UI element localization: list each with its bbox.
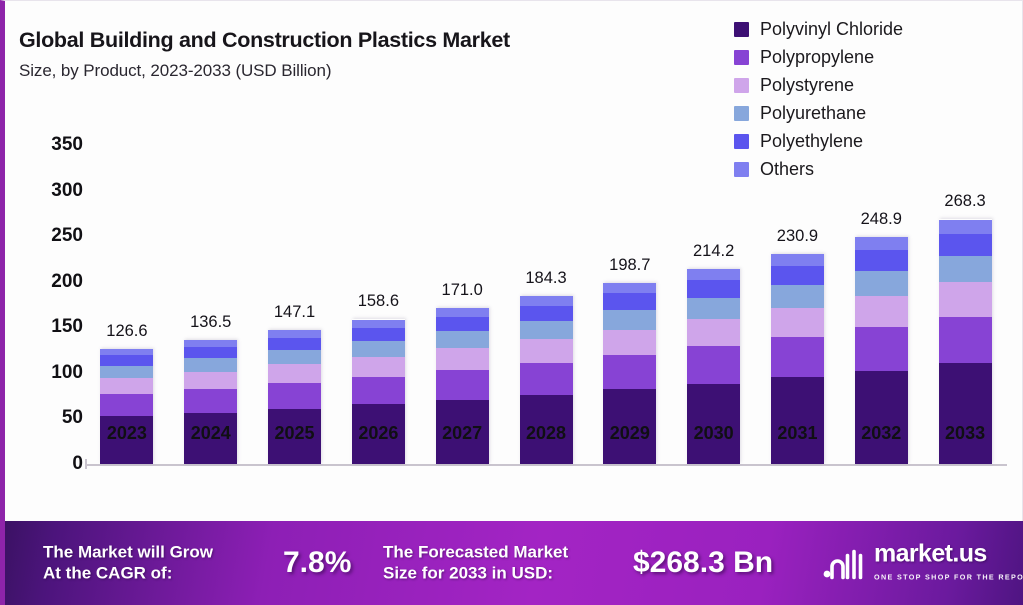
forecast-caption-line1: The Forecasted Market [383,542,568,563]
logo-name: market.us [874,540,987,568]
bar-value-label: 171.0 [420,281,504,300]
bar-segment[interactable] [436,308,489,317]
y-axis-tick-label: 0 [5,453,83,475]
market-us-bars-icon [823,546,865,580]
bar-segment[interactable] [603,310,656,330]
bar-segment[interactable] [939,282,992,316]
bar-segment[interactable] [184,347,237,358]
bar-segment[interactable] [520,363,573,395]
bar-segment[interactable] [771,337,824,377]
y-axis: 050100150200250300350 [5,1,83,521]
forecast-caption: The Forecasted Market Size for 2033 in U… [383,542,568,583]
bar-group-2030[interactable]: 214.22030 [672,269,756,464]
y-axis-tick-label: 200 [5,271,83,293]
forecast-caption-line2: Size for 2033 in USD: [383,563,568,584]
y-axis-tick-label: 250 [5,225,83,247]
bar-segment[interactable] [855,327,908,370]
bar-segment[interactable] [855,237,908,250]
y-axis-tick-label: 300 [5,180,83,202]
bar-segment[interactable] [855,271,908,296]
bar-group-2024[interactable]: 136.52024 [169,340,253,464]
bar-segment[interactable] [268,350,321,365]
bar-group-2025[interactable]: 147.12025 [253,330,337,464]
bar-group-2033[interactable]: 268.32033 [923,219,1007,464]
bar-segment[interactable] [436,348,489,370]
bar-segment[interactable] [436,370,489,400]
bar-segment[interactable] [603,283,656,293]
market-us-logo[interactable]: market.us ONE STOP SHOP FOR THE REPORTS [823,542,1023,585]
bar-segment[interactable] [939,317,992,363]
bar-segment[interactable] [520,339,573,363]
bar-value-label: 230.9 [755,227,839,246]
bar-group-2023[interactable]: 126.62023 [85,349,169,464]
x-axis-tick-label: 2023 [85,423,169,444]
bar-segment[interactable] [771,308,824,337]
bar-segment[interactable] [352,357,405,377]
bar-segment[interactable] [687,346,740,383]
bar-segment[interactable] [184,389,237,413]
bar-stack[interactable] [184,340,237,464]
cagr-caption-line1: The Market will Grow [43,542,213,563]
bar-segment[interactable] [603,330,656,355]
x-axis-tick-label: 2032 [839,423,923,444]
bar-segment[interactable] [268,330,321,338]
bar-segment[interactable] [603,355,656,389]
x-axis-tick-label: 2026 [336,423,420,444]
x-axis-tick-label: 2031 [755,423,839,444]
bar-segment[interactable] [687,319,740,346]
bar-segment[interactable] [268,383,321,409]
bar-value-label: 268.3 [923,192,1007,211]
bar-segment[interactable] [771,254,824,266]
bar-segment[interactable] [855,250,908,270]
bar-segment[interactable] [100,394,153,416]
bar-segment[interactable] [352,328,405,341]
bar-segment[interactable] [268,338,321,350]
logo-text-block: market.us ONE STOP SHOP FOR THE REPORTS [874,542,1023,585]
bar-value-label: 147.1 [253,303,337,322]
bar-segment[interactable] [520,306,573,321]
bar-segment[interactable] [352,341,405,357]
bar-segment[interactable] [436,317,489,331]
bar-segment[interactable] [184,358,237,372]
x-axis-tick-label: 2030 [672,423,756,444]
bar-segment[interactable] [603,293,656,309]
bar-segment[interactable] [520,321,573,340]
bar-segment[interactable] [771,285,824,308]
bar-value-label: 158.6 [336,292,420,311]
footer-banner: The Market will Grow At the CAGR of: 7.8… [5,521,1023,605]
bar-segment[interactable] [687,269,740,280]
bar-group-2027[interactable]: 171.02027 [420,308,504,464]
bar-value-label: 184.3 [504,269,588,288]
bar-segment[interactable] [855,371,908,465]
bar-segment[interactable] [771,377,824,464]
y-axis-tick-label: 350 [5,134,83,156]
y-axis-tick-label: 100 [5,362,83,384]
bar-segment[interactable] [855,296,908,328]
bar-segment[interactable] [100,366,153,379]
bar-group-2028[interactable]: 184.32028 [504,296,588,464]
x-axis-tick-label: 2027 [420,423,504,444]
bar-series-container: 126.62023136.52024147.12025158.62026171.… [85,1,1007,521]
x-axis-tick-label: 2024 [169,423,253,444]
bar-stack[interactable] [100,349,153,464]
logo-tagline: ONE STOP SHOP FOR THE REPORTS [874,573,1023,582]
bar-segment[interactable] [520,296,573,306]
bar-segment[interactable] [939,220,992,234]
bar-segment[interactable] [268,364,321,383]
bar-segment[interactable] [100,378,153,394]
chart-infographic: Global Building and Construction Plastic… [0,0,1023,605]
bar-segment[interactable] [687,298,740,320]
cagr-caption: The Market will Grow At the CAGR of: [43,542,213,583]
x-axis-tick-label: 2033 [923,423,1007,444]
x-axis-tick-label: 2025 [253,423,337,444]
bar-segment[interactable] [100,349,153,356]
cagr-value: 7.8% [283,546,351,580]
bar-segment[interactable] [352,320,405,328]
bar-segment[interactable] [939,234,992,256]
bar-segment[interactable] [100,355,153,365]
x-axis-tick-label: 2028 [504,423,588,444]
bar-group-2032[interactable]: 248.92032 [839,237,923,464]
x-axis-tick-label: 2029 [588,423,672,444]
chart-plot-area: 050100150200250300350 126.62023136.52024… [5,1,1023,521]
bar-value-label: 136.5 [169,313,253,332]
forecast-value: $268.3 Bn [633,546,773,580]
bar-group-2029[interactable]: 198.72029 [588,283,672,464]
bar-segment[interactable] [771,266,824,285]
bar-group-2026[interactable]: 158.62026 [336,319,420,464]
bar-group-2031[interactable]: 230.92031 [755,254,839,464]
bar-segment[interactable] [184,340,237,347]
bar-segment[interactable] [939,363,992,464]
bar-value-label: 198.7 [588,256,672,275]
y-axis-tick-label: 50 [5,407,83,429]
bar-segment[interactable] [352,377,405,405]
bar-segment[interactable] [184,372,237,389]
bar-segment[interactable] [436,331,489,348]
cagr-caption-line2: At the CAGR of: [43,563,213,584]
bar-value-label: 214.2 [672,242,756,261]
bar-value-label: 248.9 [839,210,923,229]
bar-value-label: 126.6 [85,322,169,341]
y-axis-tick-label: 150 [5,316,83,338]
bar-segment[interactable] [939,256,992,283]
bar-segment[interactable] [687,280,740,298]
